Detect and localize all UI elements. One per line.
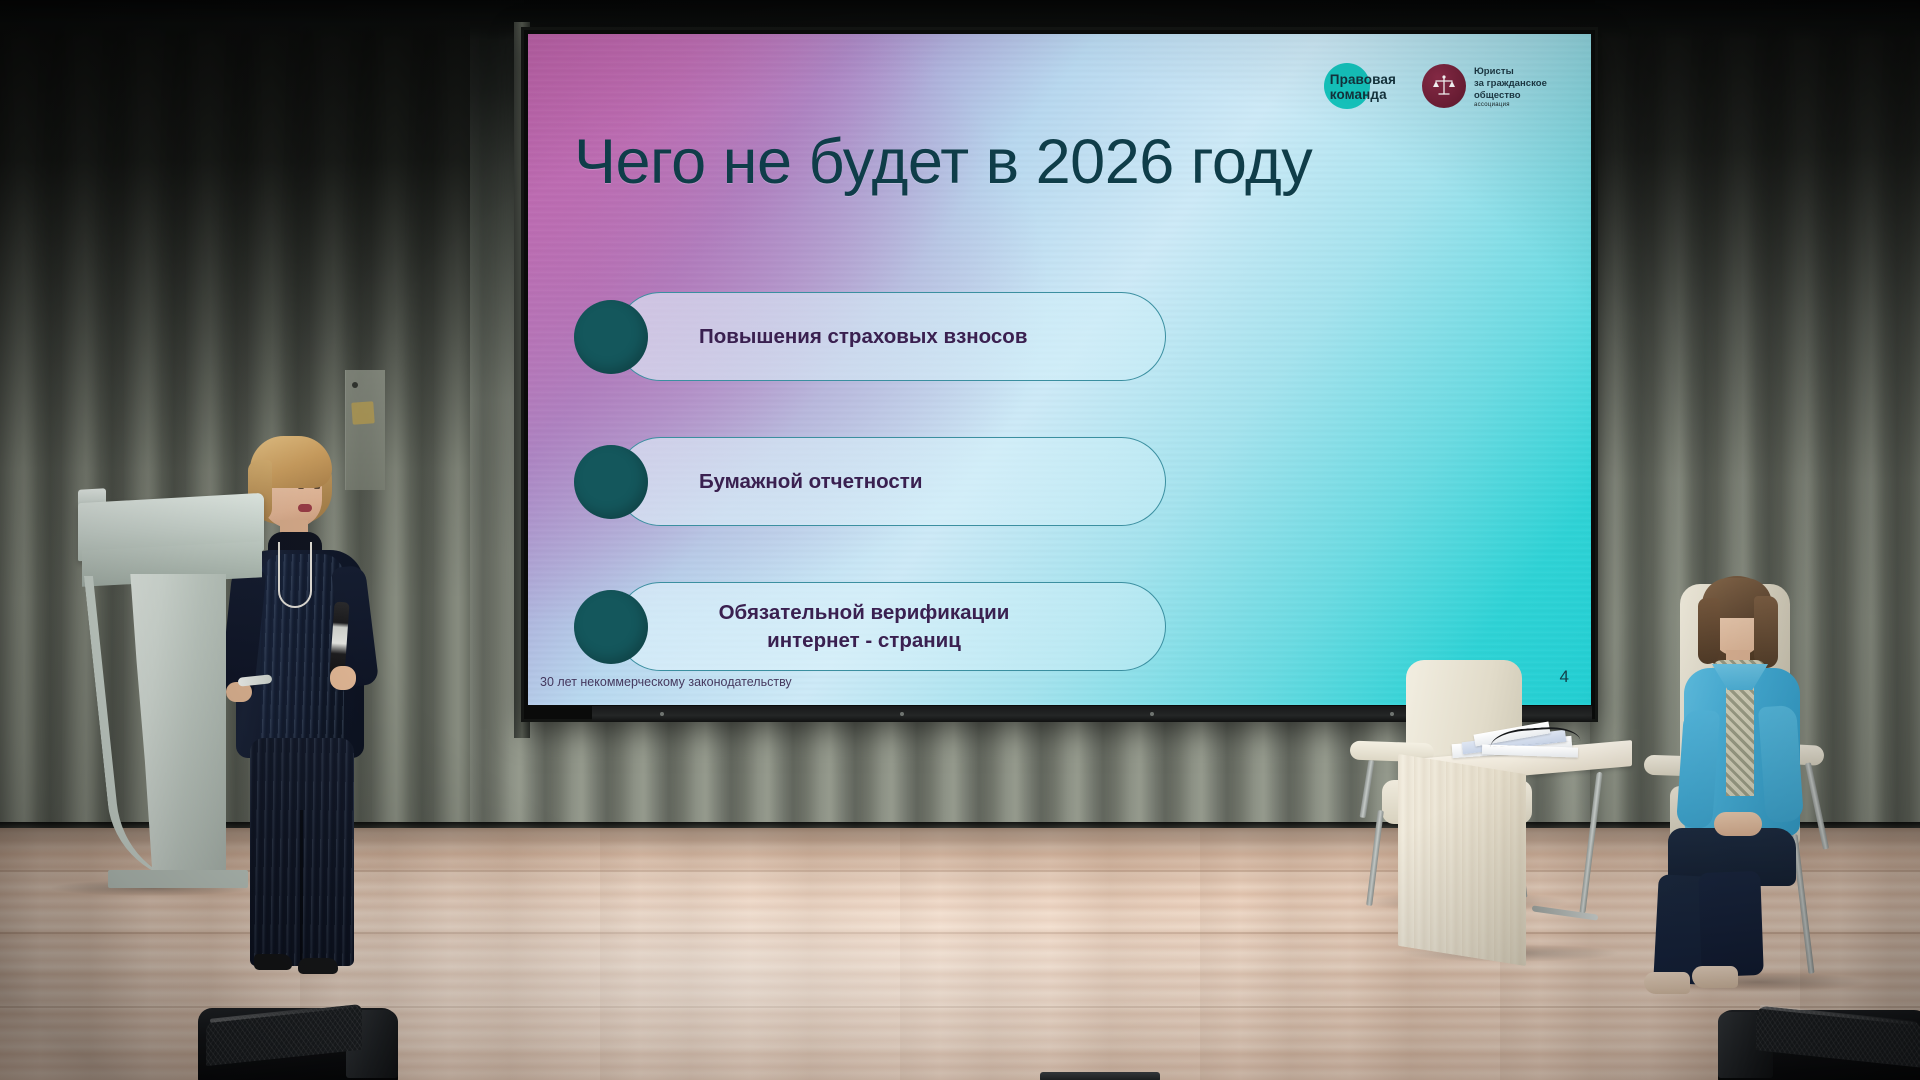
slide-bullet-list: Повышения страховых взносов Бумажной отч… <box>548 292 1168 705</box>
chair-leg <box>1360 760 1375 818</box>
presenter-left-shoe <box>254 954 292 970</box>
presentation-slide: Правовая команда <box>528 34 1591 705</box>
yuristy-logo-subtitle: ассоциация <box>1474 102 1547 108</box>
bullet-pill-shape: Повышения страховых взносов <box>616 292 1166 381</box>
stage-monitor-right <box>1718 1010 1920 1080</box>
panelist-right-arm <box>1758 705 1804 823</box>
scales-of-justice-icon <box>1422 64 1466 108</box>
yuristy-logo-text-block: Юристы за гражданское общество ассоциаци… <box>1474 64 1547 108</box>
presenter-trouser-seam <box>300 810 303 960</box>
slide-page-number: 4 <box>1560 667 1569 687</box>
table-leg <box>1579 772 1602 914</box>
yuristy-logo: Юристы за гражданское общество ассоциаци… <box>1422 64 1547 108</box>
yuristy-logo-text: Юристы за гражданское общество <box>1474 64 1547 102</box>
stage-cable-run <box>1040 1072 1160 1080</box>
screen-rail-screw <box>660 712 664 716</box>
bullet-label: Обязательной верификации интернет - стра… <box>699 599 1029 654</box>
table-foot-rail <box>1532 905 1598 920</box>
panelist-right-leg <box>1698 871 1764 977</box>
slide-bullet-item: Обязательной верификации интернет - стра… <box>548 582 1168 671</box>
pravovaya-komanda-logo-text: Правовая команда <box>1330 72 1396 102</box>
screen-rail-screw <box>1150 712 1154 716</box>
bullet-dot-icon <box>574 590 648 664</box>
presenter-right-shoe <box>298 958 338 974</box>
bullet-pill-shape: Бумажной отчетности <box>616 437 1166 526</box>
panelist-right-shoe <box>1692 966 1738 988</box>
stage-monitor-left <box>198 1008 398 1080</box>
table-side-panel <box>1398 754 1526 966</box>
slide-title: Чего не будет в 2026 году <box>574 126 1312 198</box>
bullet-dot-icon <box>574 445 648 519</box>
chair-leg <box>1366 810 1384 906</box>
panelist-left-shoe <box>1644 972 1690 994</box>
slide-bullet-item: Бумажной отчетности <box>548 437 1168 526</box>
bullet-label: Повышения страховых взносов <box>699 323 1027 350</box>
pravovaya-komanda-logo: Правовая команда <box>1330 64 1396 110</box>
wall-warning-sign <box>351 401 374 424</box>
bullet-pill-shape: Обязательной верификации интернет - стра… <box>616 582 1166 671</box>
presentation-scene: Правовая команда <box>0 0 1920 1080</box>
panelist-hair-left <box>1698 598 1720 664</box>
screen-rail-screw <box>900 712 904 716</box>
presenter-right-hand <box>330 666 356 690</box>
slide-logo-group: Правовая команда <box>1330 64 1547 110</box>
seated-panelist-figure <box>1650 576 1840 996</box>
panelist-hair-right <box>1754 596 1778 668</box>
bullet-label: Бумажной отчетности <box>699 468 922 495</box>
panelist-chair-leg <box>1805 762 1829 849</box>
slide-bullet-item: Повышения страховых взносов <box>548 292 1168 381</box>
bullet-dot-icon <box>574 300 648 374</box>
panelist-clasped-hands <box>1714 812 1762 836</box>
presenter-mouth <box>298 504 312 512</box>
podium-base <box>108 870 248 888</box>
side-table <box>1404 750 1634 980</box>
wall-fixture-dot-icon <box>352 382 358 388</box>
presenter-necklace <box>278 542 312 608</box>
podium-lectern <box>78 498 268 888</box>
slide-footer-text: 30 лет некоммерческому законодательству <box>540 675 792 689</box>
